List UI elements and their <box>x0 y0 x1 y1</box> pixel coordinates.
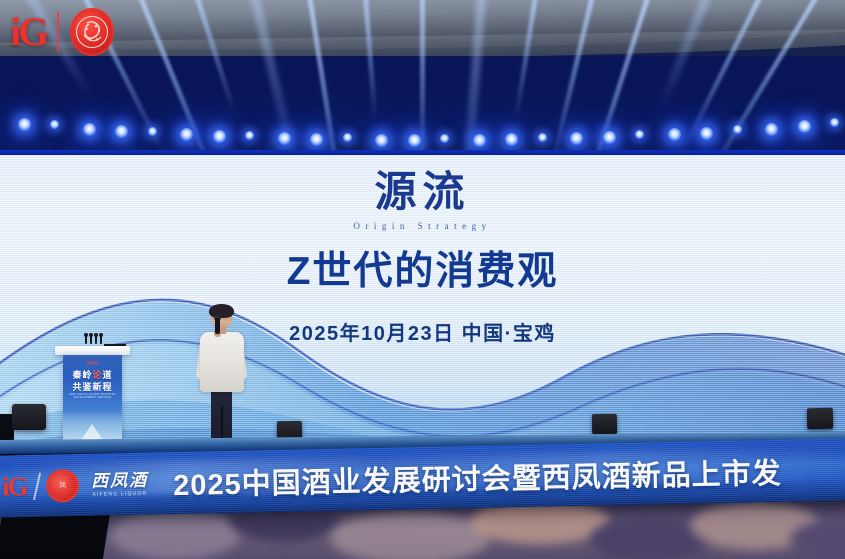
stage-scene: 源流 Origin Strategy Z世代的消费观 2025年10月23日 中… <box>0 0 845 559</box>
podium-headline-a: 秦岭 <box>72 370 92 380</box>
stage-lamp <box>830 118 839 127</box>
stage-monitor-far-left <box>12 404 46 430</box>
circular-red-seal <box>70 8 114 56</box>
banner-divider <box>33 472 41 499</box>
stage-lamp <box>700 127 713 140</box>
brand-logo-zh: 源流 <box>0 172 845 214</box>
xifeng-logo-group: 西凤酒 XIFENG LIQUOR <box>91 471 148 497</box>
stage-lamp <box>245 131 254 140</box>
xifeng-logo-en: XIFENG LIQUOR <box>92 490 147 497</box>
stage-light-row <box>0 96 845 156</box>
screen-text-block: 源流 Origin Strategy Z世代的消费观 2025年10月23日 中… <box>0 172 845 346</box>
speaker-blazer <box>200 332 244 392</box>
banner-headline: 2025中国酒业发展研讨会暨西凤酒新品上市发 <box>173 450 782 504</box>
presentation-title: Z世代的消费观 <box>0 252 845 291</box>
brand-logo-en: Origin Strategy <box>0 221 845 231</box>
stage-lamp <box>440 134 449 143</box>
stage-lamp <box>603 131 616 144</box>
banner-publisher-logo: iG <box>2 473 27 500</box>
stage-lamp <box>733 125 742 134</box>
watermark-divider <box>57 12 59 52</box>
stage-lamp <box>278 132 291 145</box>
stage-lamp <box>50 120 59 129</box>
podium-mic-head-1 <box>84 333 88 337</box>
stage-lamp <box>538 133 547 142</box>
presentation-subtitle: 2025年10月23日 中国·宝鸡 <box>0 317 845 346</box>
podium-headline-c: 道 <box>103 370 113 380</box>
screen-top-edge <box>0 150 845 155</box>
stage-lamp <box>148 127 157 136</box>
handheld-microphone <box>215 318 220 334</box>
podium-microphone-array <box>85 335 101 346</box>
stage-lamp <box>668 128 681 141</box>
led-screen: 源流 Origin Strategy Z世代的消费观 2025年10月23日 中… <box>0 150 845 450</box>
podium-top-surface <box>55 346 130 355</box>
podium-mic-head-3 <box>94 333 98 337</box>
podium: 西凤酒 秦岭论道 共鉴新程 2025 CHINA LIQUOR INDUSTRY… <box>63 346 122 446</box>
stage-lamp <box>408 134 421 147</box>
stage-lamp <box>635 130 644 139</box>
xifeng-logo-zh: 西凤酒 <box>91 471 148 489</box>
stage-lamp <box>473 134 486 147</box>
watermark-group: iG <box>10 8 114 56</box>
stage-lamp <box>18 118 31 131</box>
stage-lamp <box>505 133 518 146</box>
podium-headline-b: 论 <box>92 370 102 380</box>
speaker-hair <box>209 304 234 318</box>
podium-front-panel: 西凤酒 秦岭论道 共鉴新程 2025 CHINA LIQUOR INDUSTRY… <box>63 355 122 446</box>
seal-phoenix-icon <box>75 13 109 51</box>
carpet-pattern-4 <box>330 512 490 559</box>
banner-red-seal: 凤 <box>46 469 80 503</box>
podium-mic-head-4 <box>99 333 103 337</box>
podium-brand-logo: 西凤酒 <box>63 360 122 365</box>
stage-lamp <box>375 134 388 147</box>
stage-lamp <box>798 120 811 133</box>
stage-lamp <box>310 133 323 146</box>
publisher-logo: iG <box>10 12 46 52</box>
stage-lamp <box>765 123 778 136</box>
stage-monitor-center <box>592 414 617 434</box>
stage-lamp <box>343 133 352 142</box>
podium-headline-line2: 共鉴新程 <box>63 380 122 393</box>
stage-lamp <box>180 128 193 141</box>
podium-mic-head-2 <box>89 333 93 337</box>
podium-subtitle-en: 2025 CHINA LIQUOR INDUSTRY DEVELOPMENT S… <box>63 393 122 399</box>
stage-lamp <box>570 132 583 145</box>
stage-lamp <box>83 123 96 136</box>
stage-lamp <box>115 125 128 138</box>
speaker-figure <box>196 306 248 448</box>
podium-peak-shape <box>81 424 103 440</box>
stage-monitor-right <box>807 408 833 429</box>
stage-lamp <box>213 130 226 143</box>
carpet-pattern-2 <box>110 510 240 559</box>
